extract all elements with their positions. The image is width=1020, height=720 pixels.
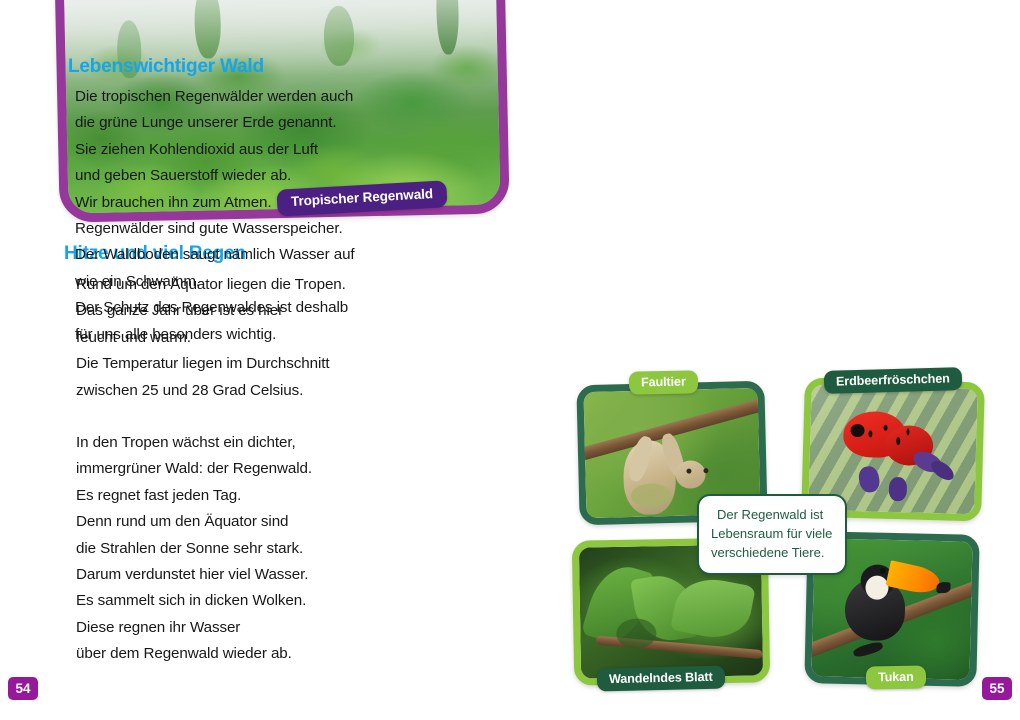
book-spread: Tropischer Regenwald Hitze und viel Rege… xyxy=(0,0,1020,720)
text-line: über dem Regenwald wieder ab. xyxy=(76,641,312,667)
text-line: Sie ziehen Kohlendioxid aus der Luft xyxy=(75,137,355,163)
text-line: die grüne Lunge unserer Erde genannt. xyxy=(75,110,355,136)
text-line: Die Temperatur liegen im Durchschnitt xyxy=(76,351,346,377)
text-line: Diese regnen ihr Wasser xyxy=(76,615,312,641)
text-line: Wir brauchen ihn zum Atmen. xyxy=(75,190,355,216)
text-line: Es regnet fast jeden Tag. xyxy=(76,483,312,509)
page-number-right: 55 xyxy=(982,677,1012,700)
text-line: Die tropischen Regenwälder werden auch xyxy=(75,84,355,110)
text-line: Es sammelt sich in dicken Wolken. xyxy=(76,588,312,614)
page-number-left: 54 xyxy=(8,677,38,700)
toucan-caption: Tukan xyxy=(866,665,926,689)
text-line: die Strahlen der Sonne sehr stark. xyxy=(76,536,312,562)
sloth-caption: Faultier xyxy=(629,370,698,394)
info-speech-bubble: Der Regenwald ist Lebensraum für viele v… xyxy=(697,494,847,575)
text-line: und geben Sauerstoff wieder ab. xyxy=(75,163,355,189)
text-line: Der Waldboden saugt nämlich Wasser auf xyxy=(75,242,355,268)
bubble-line: Lebensraum für viele xyxy=(711,524,833,543)
text-line: Denn rund um den Äquator sind xyxy=(76,509,312,535)
text-line: Regenwälder sind gute Wasserspeicher. xyxy=(75,216,355,242)
bubble-line: verschiedene Tiere. xyxy=(711,543,833,562)
left-paragraph-2: In den Tropen wächst ein dichter, immerg… xyxy=(76,430,312,668)
bubble-line: Der Regenwald ist xyxy=(711,505,833,524)
text-line: zwischen 25 und 28 Grad Celsius. xyxy=(76,378,346,404)
text-line: Darum verdunstet hier viel Wasser. xyxy=(76,562,312,588)
text-line: Der Schutz des Regenwaldes ist deshalb xyxy=(75,295,355,321)
right-page-heading: Lebenswichtiger Wald xyxy=(68,56,264,78)
text-line: immergrüner Wald: der Regenwald. xyxy=(76,456,312,482)
leaf-insect-caption: Wandelndes Blatt xyxy=(597,666,725,692)
text-line: In den Tropen wächst ein dichter, xyxy=(76,430,312,456)
right-paragraph: Die tropischen Regenwälder werden auch d… xyxy=(75,84,355,348)
text-line: wie ein Schwamm. xyxy=(75,269,355,295)
frog-caption: Erdbeerfröschchen xyxy=(824,367,962,394)
text-line: für uns alle besonders wichtig. xyxy=(75,322,355,348)
